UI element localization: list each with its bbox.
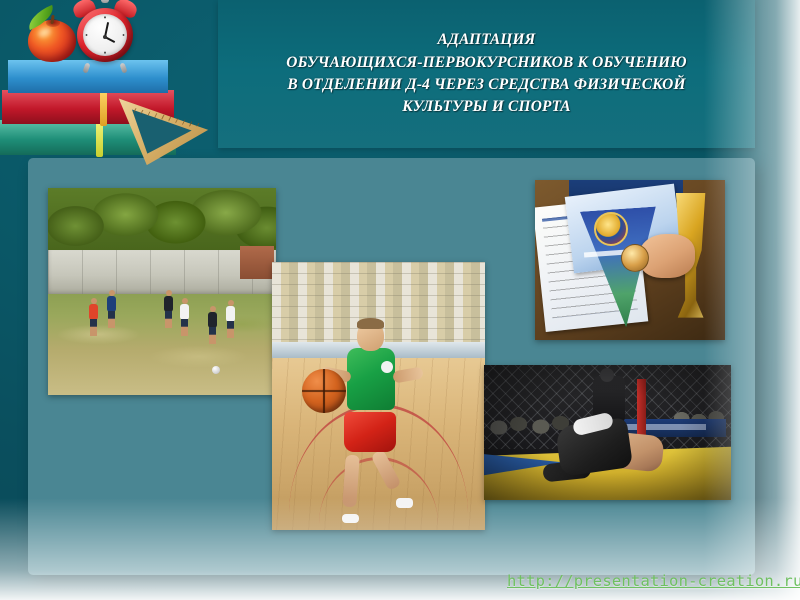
player-head: [109, 290, 115, 296]
apple-icon: [28, 16, 76, 62]
player-legs: [165, 311, 172, 328]
school-supplies-decoration: [0, 0, 228, 168]
photo-grass-field: [48, 294, 276, 395]
player-hair: [357, 318, 384, 329]
source-url-watermark[interactable]: http://presentation-creation.ru/: [507, 572, 800, 590]
player-head: [166, 290, 172, 296]
book-band-2: [100, 88, 107, 126]
player-legs: [90, 319, 97, 336]
player-shoe-left: [342, 514, 359, 523]
photo-vignette: [484, 365, 731, 500]
photo-football[interactable]: [48, 188, 276, 395]
medal: [621, 244, 649, 272]
slide-title-box: АДАПТАЦИЯ ОБУЧАЮЩИХСЯ-ПЕРВОКУРСНИКОВ К О…: [218, 0, 755, 148]
player-torso: [226, 306, 235, 322]
player-legs: [209, 327, 216, 344]
triangle-ruler-icon: [117, 92, 211, 167]
player-red-shorts: [344, 412, 396, 452]
clock-center-pin: [103, 35, 107, 39]
player-torso: [89, 304, 98, 320]
player-green-jersey: [347, 348, 395, 410]
player-legs: [227, 321, 234, 338]
alarm-clock-icon: [74, 0, 136, 68]
player-torso: [180, 304, 189, 320]
player-legs: [181, 319, 188, 336]
photo-basketball[interactable]: [272, 262, 485, 530]
player-torso: [107, 296, 116, 312]
photo-awards[interactable]: [535, 180, 725, 340]
basketball-ball: [302, 369, 346, 413]
clock-button: [101, 0, 109, 3]
player-torso: [208, 312, 217, 328]
presentation-slide: АДАПТАЦИЯ ОБУЧАЮЩИХСЯ-ПЕРВОКУРСНИКОВ К О…: [0, 0, 800, 600]
photo-mma-grappling[interactable]: [484, 365, 731, 500]
federation-emblem: [594, 212, 628, 246]
player-legs: [108, 311, 115, 328]
photo-building: [240, 246, 274, 279]
slide-title: АДАПТАЦИЯ ОБУЧАЮЩИХСЯ-ПЕРВОКУРСНИКОВ К О…: [276, 29, 696, 118]
photo-collage: [28, 158, 755, 575]
player-torso: [164, 296, 173, 312]
content-panel: [28, 158, 755, 575]
player-shoe-right: [396, 498, 413, 508]
jersey-logo: [381, 361, 393, 373]
